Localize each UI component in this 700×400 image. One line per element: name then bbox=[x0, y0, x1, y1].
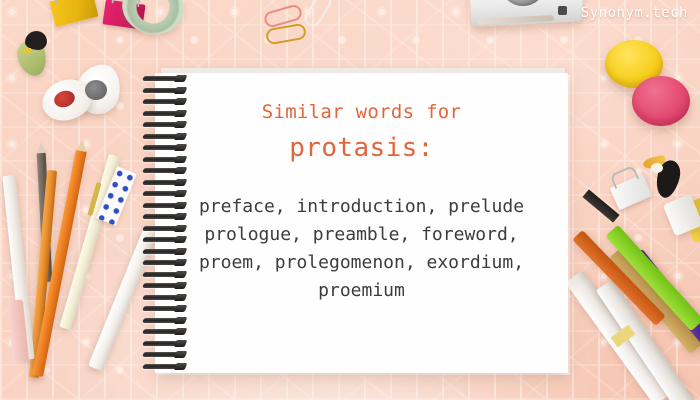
eraser-gray-center-icon bbox=[85, 80, 107, 100]
spiral-coil bbox=[142, 191, 184, 196]
spiral-coil bbox=[142, 249, 184, 254]
spiral-coil bbox=[142, 226, 184, 231]
spiral-coil bbox=[142, 318, 184, 323]
note-text-block: Similar words for protasis: preface, int… bbox=[155, 73, 568, 305]
spiral-coil bbox=[142, 295, 184, 300]
toucan-chest-icon bbox=[651, 163, 663, 173]
spiral-coil bbox=[142, 145, 184, 150]
spiral-coil bbox=[142, 76, 184, 81]
spiral-coil bbox=[142, 214, 184, 219]
spiral-coil bbox=[142, 134, 184, 139]
synonym-list: preface, introduction, prelude prologue,… bbox=[155, 193, 568, 305]
spiral-coil bbox=[142, 99, 184, 104]
spiral-coil bbox=[142, 157, 184, 162]
spiral-coil bbox=[142, 122, 184, 127]
spiral-coil bbox=[142, 364, 184, 369]
bird-eraser-beak-icon bbox=[22, 48, 31, 54]
spiral-binding bbox=[143, 72, 187, 374]
camera-button-icon bbox=[558, 6, 567, 15]
headword: protasis: bbox=[155, 133, 568, 163]
spiral-coil bbox=[142, 329, 184, 334]
spiral-coil bbox=[142, 272, 184, 277]
spiral-coil bbox=[142, 111, 184, 116]
spiral-coil bbox=[142, 260, 184, 265]
spiral-coil bbox=[142, 180, 184, 185]
spiral-coil bbox=[142, 203, 184, 208]
screenshot-canvas: Similar words for protasis: preface, int… bbox=[0, 0, 700, 400]
brand-watermark: Synonym.tech bbox=[581, 5, 688, 21]
spiral-coil bbox=[142, 352, 184, 357]
spiral-coil bbox=[142, 341, 184, 346]
spiral-coil bbox=[142, 168, 184, 173]
spiral-coil bbox=[142, 283, 184, 288]
binder-clip-handle bbox=[52, 0, 85, 3]
spiral-coil bbox=[142, 88, 184, 93]
notebook-page: Similar words for protasis: preface, int… bbox=[155, 73, 568, 373]
spiral-coil bbox=[142, 237, 184, 242]
spiral-coil bbox=[142, 306, 184, 311]
macaron-pink-icon bbox=[632, 76, 690, 126]
page-title: Similar words for bbox=[155, 101, 568, 123]
